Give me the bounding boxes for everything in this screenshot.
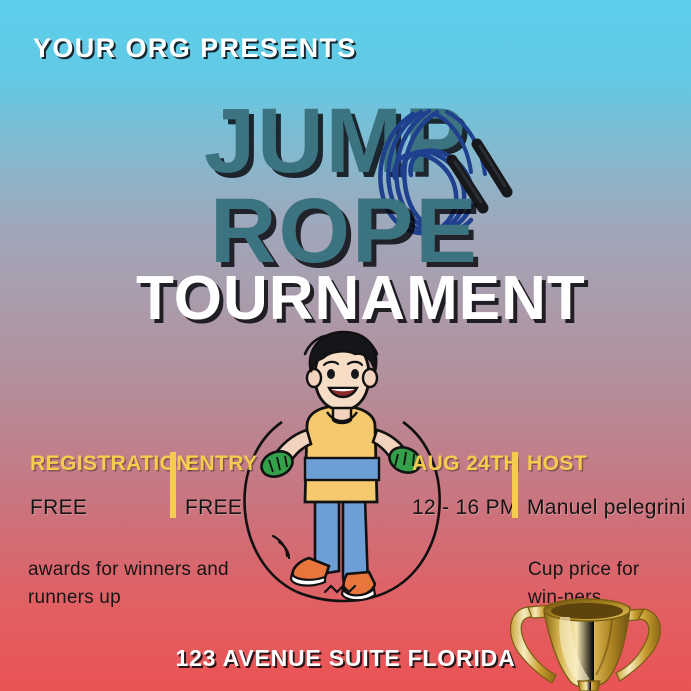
title-line-jump: JUMP	[204, 95, 468, 187]
info-cell-registration: REGISTRATION FREE	[30, 452, 192, 520]
entry-value: FREE	[185, 496, 257, 520]
title-line-tournament: TOURNAMENT	[136, 268, 586, 330]
registration-label: REGISTRATION	[30, 452, 192, 476]
org-presents-label: YOUR ORG PRESENTS	[33, 33, 357, 64]
time-value: 12 - 16 PM	[412, 496, 519, 520]
cup-price-note: Cup price for win-ners	[528, 556, 668, 611]
poster-canvas: YOUR ORG PRESENTS JUMP RO	[0, 0, 691, 691]
date-label: AUG 24TH	[412, 452, 519, 476]
host-label: HOST	[527, 452, 686, 476]
host-value: Manuel pelegrini	[527, 496, 686, 520]
info-cell-host: HOST Manuel pelegrini	[527, 452, 686, 520]
awards-note: awards for winners and runners up	[28, 556, 258, 611]
event-info-row: REGISTRATION FREE ENTRY FREE AUG 24TH 12…	[0, 452, 691, 528]
entry-label: ENTRY	[185, 452, 257, 476]
divider-bar-2	[512, 452, 518, 518]
info-cell-date: AUG 24TH 12 - 16 PM	[412, 452, 519, 520]
divider-bar-1	[170, 452, 176, 518]
footer-address: 123 AVENUE SUITE FLORIDA	[0, 645, 691, 672]
info-cell-entry: ENTRY FREE	[185, 452, 257, 520]
registration-value: FREE	[30, 496, 192, 520]
